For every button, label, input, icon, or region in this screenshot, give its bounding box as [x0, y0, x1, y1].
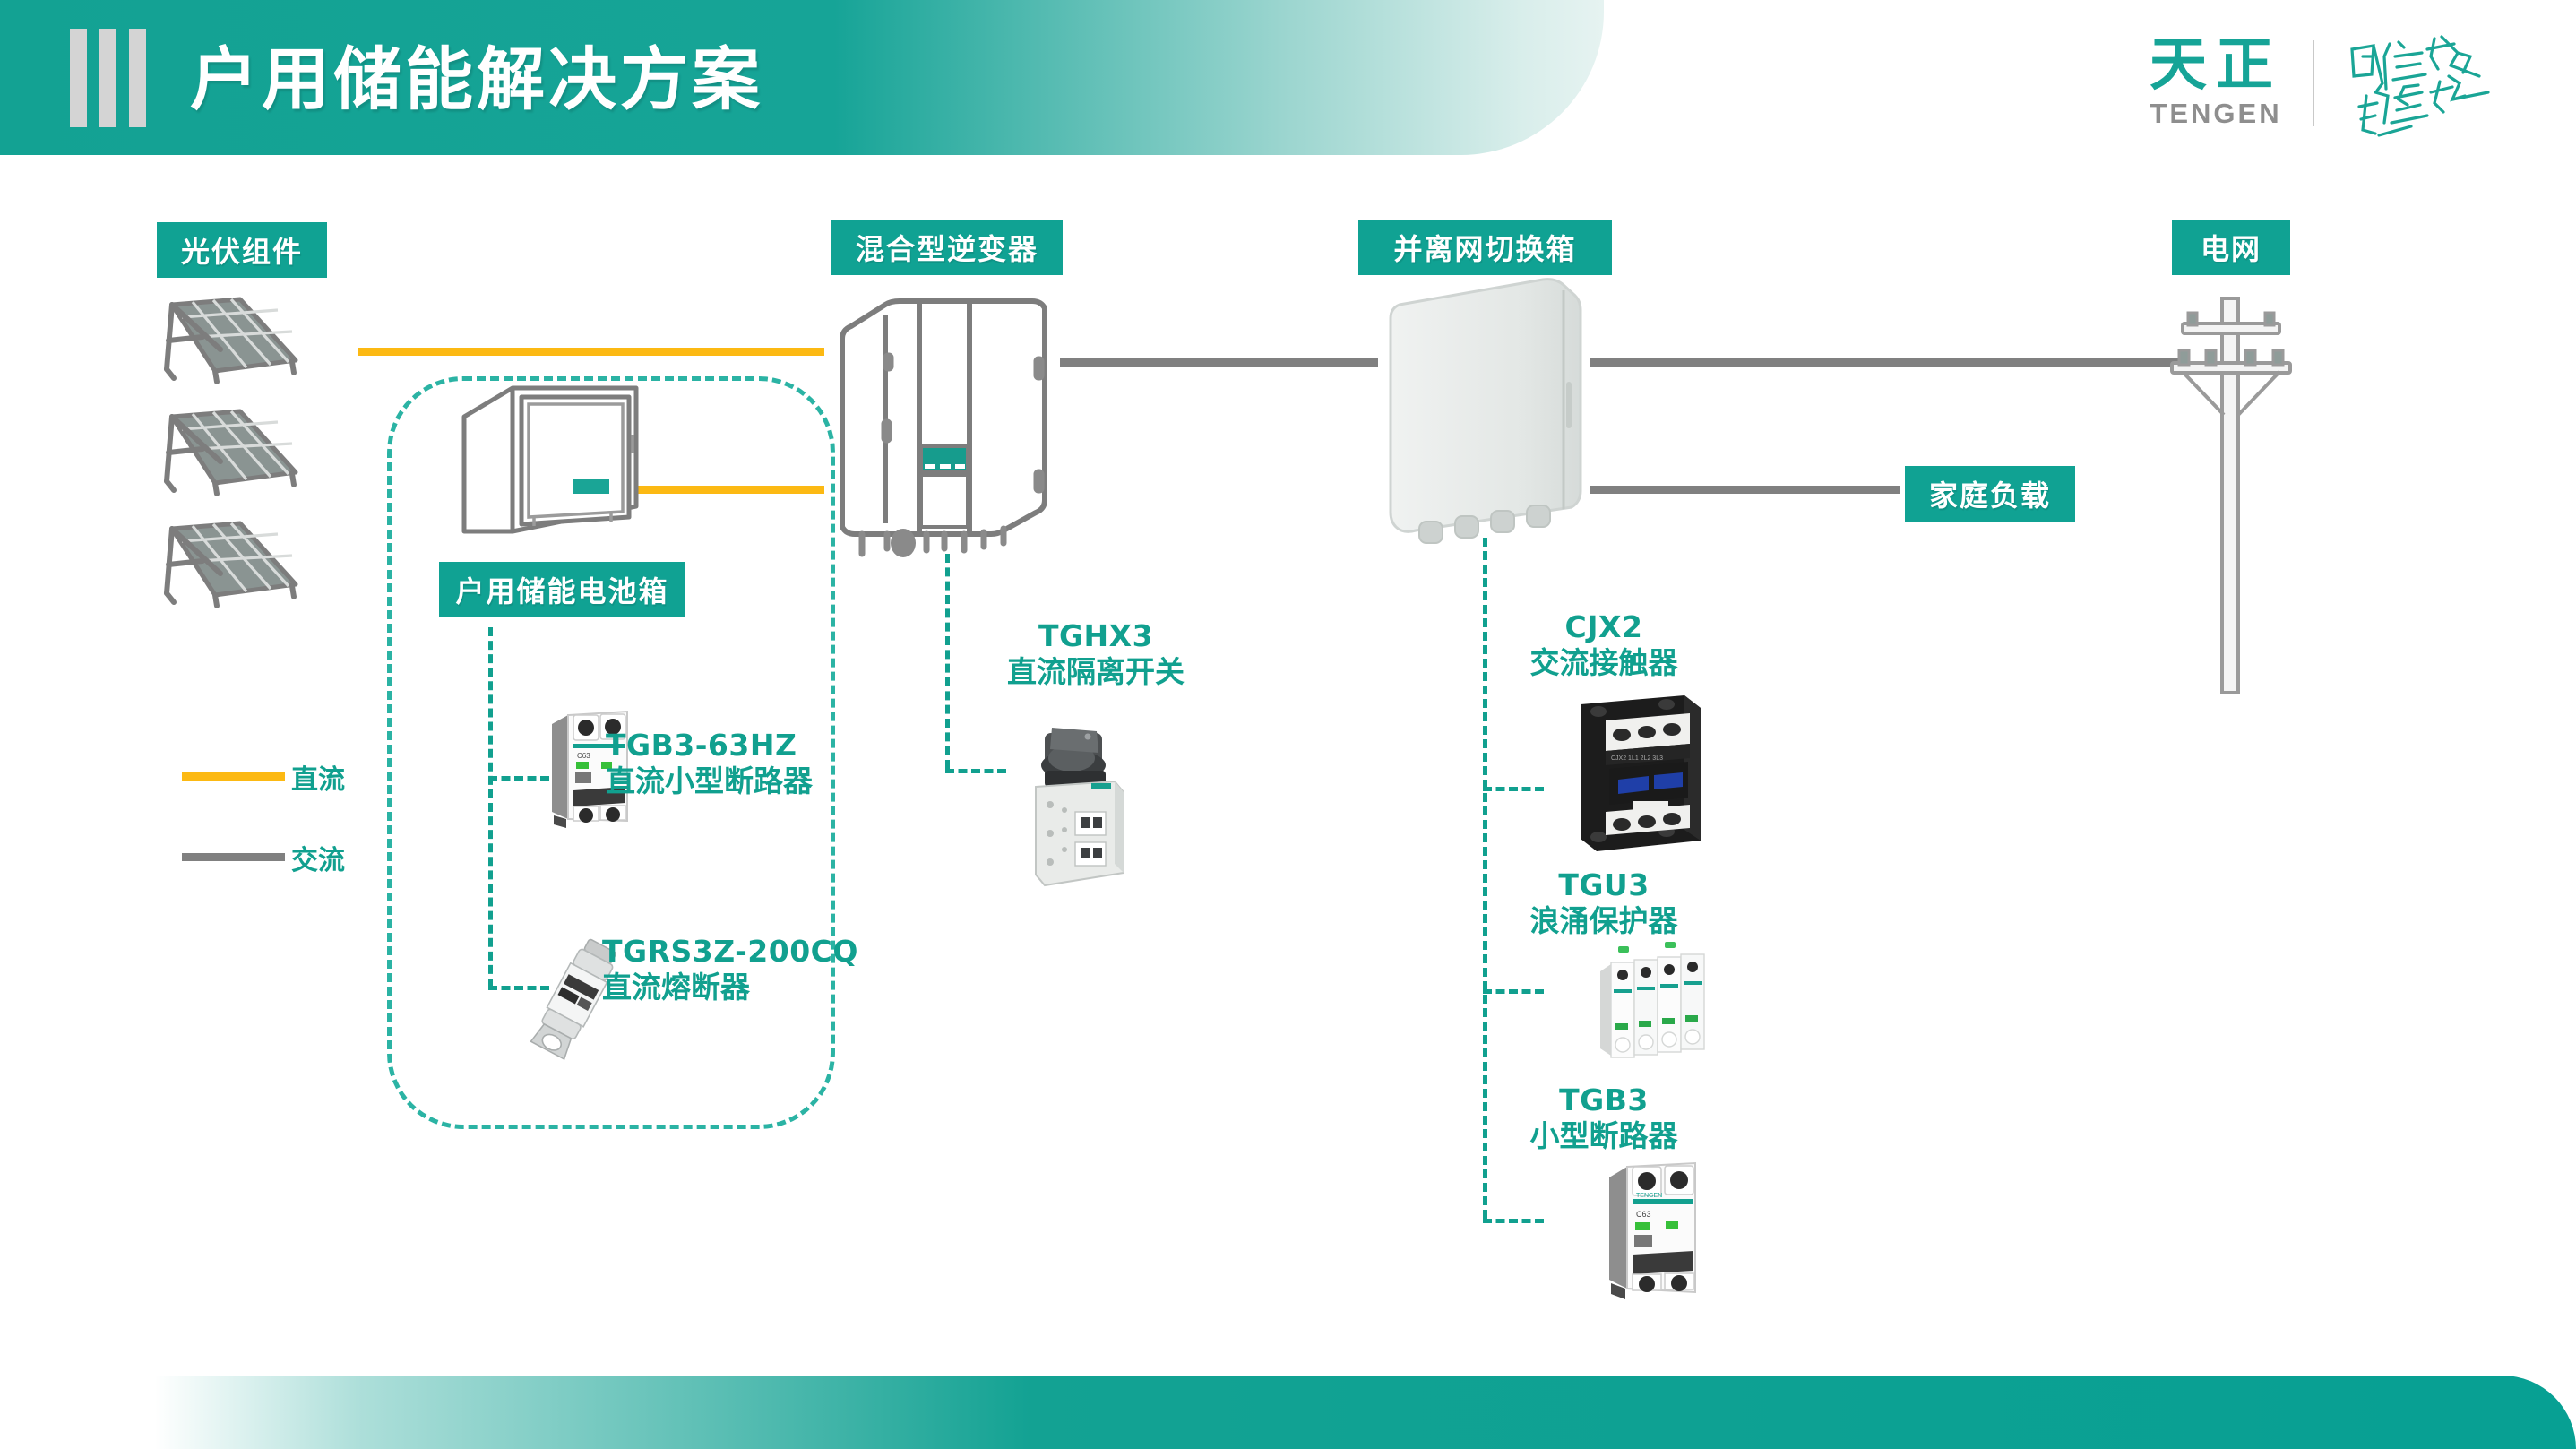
legend-ac-line-swatch	[182, 853, 285, 861]
tgb3-icon: TENGEN C63	[1595, 1154, 1711, 1305]
cjx2-branch-line	[1483, 787, 1544, 791]
header-bars-icon	[70, 29, 146, 127]
pv-panel-icon-2	[152, 408, 305, 506]
page-title: 户用储能解决方案	[190, 24, 763, 123]
node-badge-inverter-label: 混合型逆变器	[856, 227, 1038, 268]
legend-dc-line-swatch	[182, 772, 285, 781]
tgu3-icon	[1588, 941, 1713, 1075]
inverter-icon	[833, 296, 1057, 542]
brand-name-cn: 天正	[2150, 37, 2282, 94]
product-label-tgrs3z-200cq: TGRS3Z-200CQ 直流熔断器	[602, 934, 858, 1006]
tgu3-branch-line	[1483, 989, 1544, 994]
pv-panel-icon-1	[152, 296, 305, 394]
node-badge-pv: 光伏组件	[157, 222, 327, 278]
product-name-tgrs3z-200cq: 直流熔断器	[602, 970, 858, 1005]
tgb3-63hz-drop-line	[488, 627, 493, 988]
product-model-tgu3: TGU3	[1487, 867, 1720, 903]
page-header: 户用储能解决方案	[0, 0, 1604, 155]
product-name-tgb3: 小型断路器	[1487, 1118, 1720, 1154]
pv-panel-icon-3	[152, 520, 305, 618]
svg-text:CJX2 1L1 2L2 3L3: CJX2 1L1 2L2 3L3	[1611, 755, 1663, 762]
node-badge-switch-box-label: 并离网切换箱	[1393, 227, 1576, 268]
node-badge-home-load-label: 家庭负载	[1929, 473, 2051, 514]
node-badge-grid: 电网	[2172, 220, 2290, 275]
brand-divider	[2313, 40, 2314, 126]
tghx3-drop-line	[945, 554, 950, 769]
product-model-tgb3: TGB3	[1487, 1082, 1720, 1118]
product-model-cjx2: CJX2	[1487, 609, 1720, 645]
node-badge-home-load: 家庭负载	[1905, 466, 2075, 522]
product-name-tghx3: 直流隔离开关	[984, 654, 1208, 690]
product-name-tgu3: 浪涌保护器	[1487, 903, 1720, 939]
footer-band	[0, 1376, 2576, 1449]
node-badge-inverter: 混合型逆变器	[831, 220, 1063, 275]
node-badge-switch-box: 并离网切换箱	[1358, 220, 1612, 275]
tengen-logo: 天正 TENGEN	[2150, 37, 2282, 130]
product-label-cjx2: CJX2 交流接触器	[1487, 609, 1720, 682]
brand-logo-area: 天正 TENGEN	[2150, 16, 2524, 151]
cjx2-icon: CJX2 1L1 2L2 3L3	[1566, 688, 1710, 858]
svg-text:C63: C63	[577, 752, 590, 760]
node-badge-pv-label: 光伏组件	[181, 229, 303, 271]
ac-line-switchbox-to-home-load	[1590, 486, 1900, 494]
dc-line-pv-to-inverter	[358, 348, 824, 356]
product-label-tgb3: TGB3 小型断路器	[1487, 1082, 1720, 1155]
product-label-tgb3-63hz: TGB3-63HZ 直流小型断路器	[606, 728, 813, 800]
ac-line-inverter-to-switchbox	[1060, 358, 1378, 367]
battery-cabinet-icon	[457, 381, 645, 542]
svg-text:C63: C63	[1636, 1210, 1651, 1219]
product-model-tghx3: TGHX3	[984, 618, 1208, 654]
product-name-tgb3-63hz: 直流小型断路器	[606, 763, 813, 799]
svg-text:TENGEN: TENGEN	[1636, 1193, 1662, 1199]
ac-line-switchbox-to-grid	[1590, 358, 2182, 367]
brand-name-en: TENGEN	[2150, 98, 2281, 130]
product-model-tgb3-63hz: TGB3-63HZ	[606, 728, 813, 763]
legend-dc-label: 直流	[291, 757, 345, 797]
brand-slogan-handwriting	[2345, 30, 2524, 137]
utility-pole-icon	[2168, 291, 2294, 703]
product-label-tghx3: TGHX3 直流隔离开关	[984, 618, 1208, 691]
product-name-cjx2: 交流接触器	[1487, 645, 1720, 681]
tghx3-icon	[1012, 715, 1138, 894]
tgb3-63hz-branch-line	[488, 776, 549, 781]
tghx3-branch-line	[945, 769, 1006, 773]
node-badge-grid-label: 电网	[2201, 227, 2262, 268]
legend-ac-label: 交流	[291, 838, 345, 877]
product-label-tgu3: TGU3 浪涌保护器	[1487, 867, 1720, 940]
product-model-tgrs3z-200cq: TGRS3Z-200CQ	[602, 934, 858, 970]
switch-box-icon	[1380, 278, 1595, 538]
tgb3-branch-line	[1483, 1219, 1544, 1223]
